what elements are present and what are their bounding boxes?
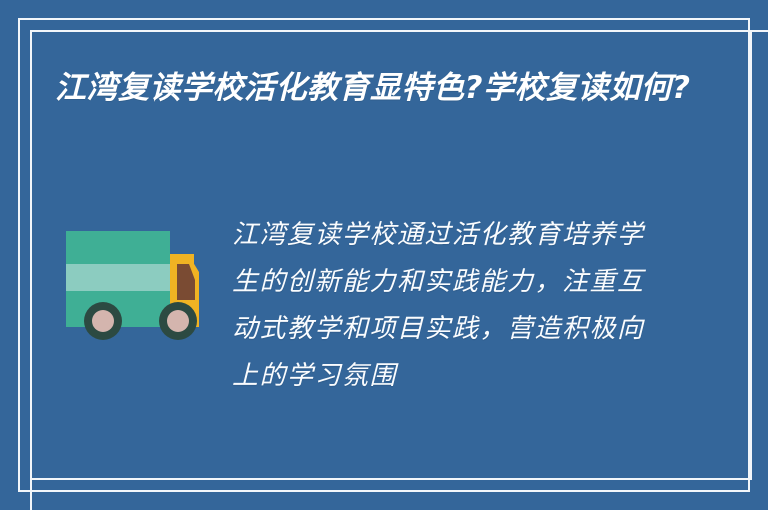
delivery-truck-icon — [58, 222, 208, 344]
article-body-text: 江湾复读学校通过活化教育培养学生的创新能力和实践能力，注重互动式教学和项目实践，… — [232, 212, 662, 400]
truck-cargo-stripe — [66, 264, 170, 291]
poster-canvas: 江湾复读学校活化教育显特色?学校复读如何? 江湾复读学校通过活化教育培养学生的创… — [0, 0, 768, 510]
page-title: 江湾复读学校活化教育显特色?学校复读如何? — [55, 63, 695, 114]
